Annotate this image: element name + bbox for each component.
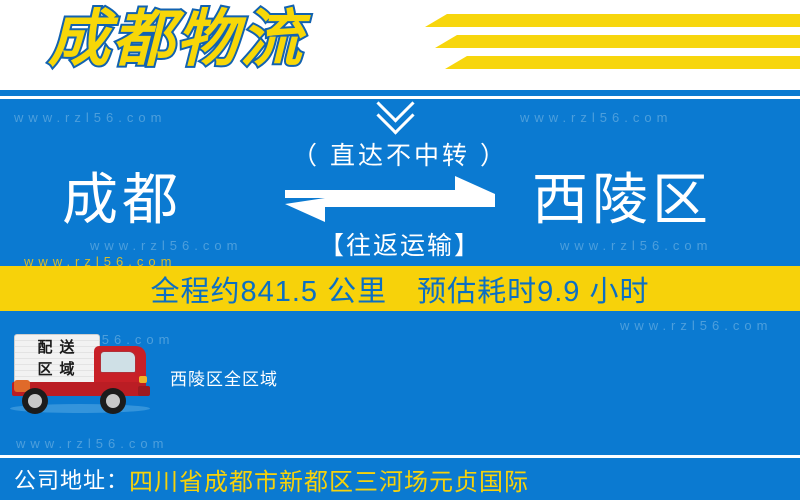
- truck-rear-wheel: [22, 388, 48, 414]
- stripe-2: [435, 35, 800, 48]
- duration-text: 预估耗时9.9 小时: [417, 268, 649, 310]
- truck-cargo-line1: 配送: [30, 337, 81, 359]
- direct-shipping-note: （ 直达不中转 ）: [0, 136, 800, 172]
- poster-header: 成都物流: [0, 0, 800, 90]
- stripe-1: [425, 14, 800, 27]
- bidirectional-arrow-icon: [285, 176, 495, 224]
- metrics-bar: 全程约841.5 公里 预估耗时9.9 小时: [0, 266, 800, 311]
- arrow-right: [285, 176, 495, 198]
- watermark: www.rzl56.com: [520, 110, 672, 125]
- truck-cargo-line2: 区域: [30, 359, 81, 381]
- logistics-poster: 成都物流 www.rzl56.com www.rzl56.com www.rzl…: [0, 0, 800, 500]
- brand-title: 成都物流: [48, 3, 304, 77]
- delivery-zone-label: 西陵区全区域: [170, 365, 278, 390]
- double-chevron-down-icon: [365, 92, 435, 130]
- truck-window: [100, 351, 136, 373]
- distance-text: 全程约841.5 公里: [150, 268, 387, 310]
- company-address-bar: 公司地址： 四川省成都市新都区三河场元贞国际: [0, 458, 800, 500]
- stripe-3: [445, 56, 800, 69]
- watermark: www.rzl56.com: [14, 110, 166, 125]
- watermark: www.rzl56.com: [16, 436, 168, 451]
- destination-city: 西陵区: [532, 168, 712, 232]
- watermark: www.rzl56.com: [620, 318, 772, 333]
- decorative-stripes: [420, 14, 800, 76]
- truck-bumper: [138, 386, 150, 396]
- address-value: 四川省成都市新都区三河场元贞国际: [129, 462, 529, 497]
- address-label: 公司地址：: [14, 463, 129, 495]
- delivery-truck-icon: 配送 区域: [6, 330, 154, 418]
- truck-cargo-text: 配送 区域: [16, 336, 96, 382]
- origin-city: 成都: [62, 168, 182, 232]
- truck-headlight: [139, 376, 147, 383]
- truck-front-wheel: [100, 388, 126, 414]
- arrow-left: [285, 198, 495, 222]
